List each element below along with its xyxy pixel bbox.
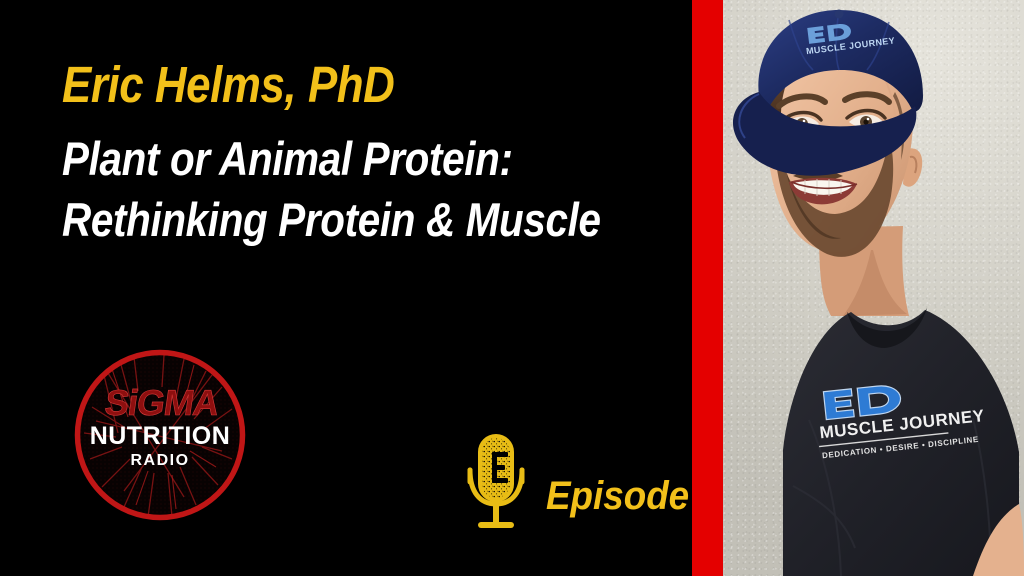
logo-word-sigma: SiGMA [102,382,222,423]
guest-photo: MUSCLE JOURNEY DEDICATION • DESIRE • DIS… [723,0,1024,576]
sigma-nutrition-radio-logo: SiGMA NUTRITION RADIO [72,347,248,523]
episode-title-line-1: Plant or Animal Protein: [62,128,578,189]
episode-title-line-2: Rethinking Protein & Muscle [62,189,578,250]
guest-portrait-illustration: MUSCLE JOURNEY DEDICATION • DESIRE • DIS… [723,0,1024,576]
logo-word-radio: RADIO [130,452,189,469]
red-divider-stripe [692,0,723,576]
microphone-icon [458,430,534,536]
logo-word-nutrition: NUTRITION [90,422,231,450]
podcast-episode-cover: Eric Helms, PhD Plant or Animal Protein:… [0,0,1024,576]
guest-name: Eric Helms, PhD [62,58,578,112]
title-block: Eric Helms, PhD Plant or Animal Protein:… [62,58,662,250]
